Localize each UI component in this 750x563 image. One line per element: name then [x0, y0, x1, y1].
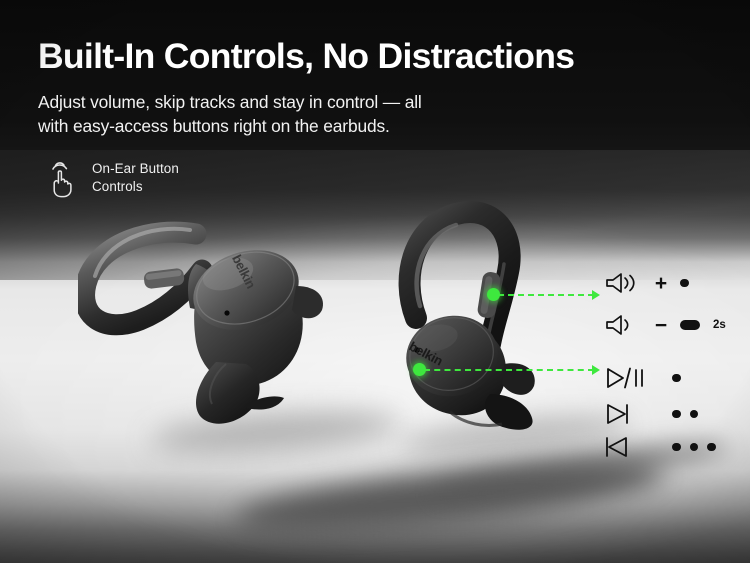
- volume-down-modifier: −: [650, 315, 672, 336]
- play-pause-icon: [604, 366, 660, 390]
- subtitle-line-2: with easy-access buttons right on the ea…: [38, 114, 422, 138]
- gesture-press-hold: 2s: [680, 319, 726, 331]
- legend-row-next-track: [604, 401, 698, 427]
- tap-dot: [672, 410, 681, 419]
- earbud-left: belkin: [78, 212, 343, 432]
- legend-row-play-pause: [604, 365, 681, 391]
- tap-dot: [672, 374, 681, 383]
- tap-dot: [690, 410, 699, 419]
- tap-dot: [672, 443, 681, 452]
- earbud-right: belkin: [386, 198, 591, 438]
- volume-up-modifier: +: [650, 273, 672, 294]
- gesture-single-tap: [672, 374, 681, 383]
- callout-dash-playback: [424, 369, 594, 371]
- gesture-single-tap: [680, 279, 689, 288]
- tap-dot: [690, 443, 699, 452]
- on-ear-controls-callout: On-Ear Button Controls: [46, 156, 179, 198]
- volume-up-icon: [604, 271, 650, 295]
- legend-row-previous-track: [604, 434, 716, 460]
- on-ear-label-line-2: Controls: [92, 178, 179, 196]
- callout-arrow-playback: [592, 365, 600, 375]
- tap-hand-icon: [46, 156, 80, 198]
- volume-down-icon: [604, 313, 650, 337]
- hold-duration-label: 2s: [713, 319, 726, 331]
- page-title: Built-In Controls, No Distractions: [38, 36, 574, 77]
- legend-row-volume-down: − 2s: [604, 312, 726, 338]
- gesture-triple-tap: [672, 443, 716, 452]
- gesture-double-tap: [672, 410, 698, 419]
- on-ear-label-line-1: On-Ear Button: [92, 160, 179, 178]
- on-ear-controls-label: On-Ear Button Controls: [92, 156, 179, 195]
- subtitle-line-1: Adjust volume, skip tracks and stay in c…: [38, 90, 422, 114]
- product-feature-slide: Built-In Controls, No Distractions Adjus…: [0, 0, 750, 563]
- page-subtitle: Adjust volume, skip tracks and stay in c…: [38, 90, 422, 138]
- tap-dot: [707, 443, 716, 452]
- previous-track-icon: [604, 435, 660, 459]
- tap-dot: [680, 279, 689, 288]
- callout-arrow-volume: [592, 290, 600, 300]
- hold-pill: [680, 320, 700, 330]
- next-track-icon: [604, 402, 660, 426]
- legend-row-volume-up: +: [604, 270, 689, 296]
- callout-dash-volume: [498, 294, 594, 296]
